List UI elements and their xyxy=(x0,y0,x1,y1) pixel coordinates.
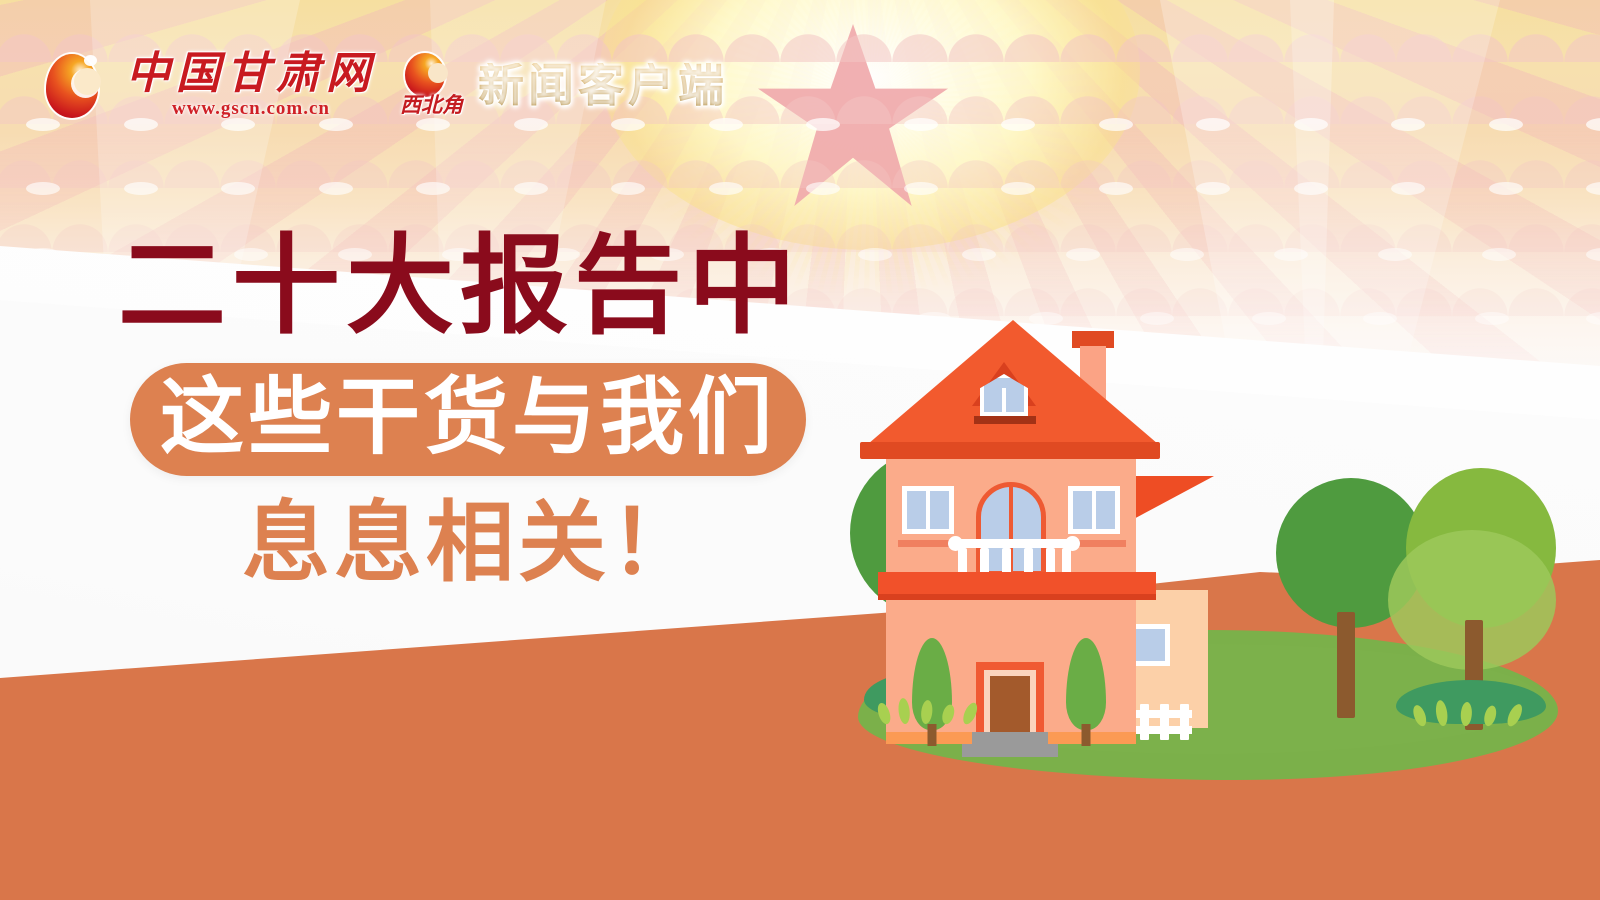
publisher-name: 中国甘肃网 xyxy=(126,52,376,96)
ceiling-light xyxy=(709,182,743,195)
cypress-foliage xyxy=(1066,638,1106,730)
headline-line-3: 息息相关！ xyxy=(242,498,806,588)
balcony-handrail xyxy=(952,539,1076,548)
swirl-notch xyxy=(74,68,101,95)
poster-canvas: 中国甘肃网 www.gscn.com.cn 西北角 新闻客户端 二十大报告中 这… xyxy=(0,0,1600,900)
ceiling-light xyxy=(1099,182,1133,195)
floor-divider-shadow xyxy=(878,594,1156,600)
swirl-notch-small xyxy=(428,63,448,83)
ceiling-light xyxy=(1586,118,1600,131)
ceiling-light xyxy=(1001,182,1035,195)
grass-blade xyxy=(940,703,956,725)
house-illustration xyxy=(840,300,1600,820)
roof-eave xyxy=(860,442,1160,459)
grass-blade xyxy=(1411,703,1429,727)
cypress-stem xyxy=(928,724,937,746)
attic-window-sill xyxy=(974,416,1036,424)
headline-line-1: 二十大报告中 xyxy=(118,228,806,345)
upper-window-left xyxy=(902,486,954,534)
cypress-stem xyxy=(1082,724,1091,746)
ceiling-light xyxy=(806,118,840,131)
window-mullion xyxy=(926,491,930,529)
logo-bar: 中国甘肃网 www.gscn.com.cn 西北角 新闻客户端 xyxy=(44,48,728,124)
grass-blade xyxy=(1460,702,1473,727)
ceiling-light xyxy=(806,182,840,195)
swirl-highlight-dot xyxy=(84,55,97,66)
publisher-brand: 中国甘肃网 www.gscn.com.cn xyxy=(126,52,376,120)
upper-window-right xyxy=(1068,486,1120,534)
ceiling-light xyxy=(611,182,645,195)
ceiling-light xyxy=(904,118,938,131)
grass-blade xyxy=(1482,704,1498,727)
ceiling-light xyxy=(1001,118,1035,131)
ceiling-light xyxy=(1586,248,1600,261)
gansu-net-swirl-logo xyxy=(44,48,100,124)
ceiling-light xyxy=(962,248,996,261)
ceiling-light xyxy=(26,182,60,195)
ceiling-light xyxy=(858,248,892,261)
grass-blade xyxy=(920,700,933,725)
app-name: 新闻客户端 xyxy=(478,63,728,109)
grass-tuft-left xyxy=(878,698,988,724)
ceiling-light xyxy=(1066,248,1100,261)
ceiling-light xyxy=(904,182,938,195)
grass-blade xyxy=(1434,699,1449,726)
ceiling-light xyxy=(319,182,353,195)
ceiling-light xyxy=(1099,118,1133,131)
grass-blade xyxy=(875,701,892,725)
headline-line-2: 这些干货与我们 xyxy=(160,375,776,461)
headline-pill: 这些干货与我们 xyxy=(130,363,806,477)
grass-blade xyxy=(897,698,911,725)
publisher-url: www.gscn.com.cn xyxy=(172,98,330,120)
cypress-right xyxy=(1066,638,1106,746)
cypress-left xyxy=(912,638,952,746)
grass-tuft-right xyxy=(1414,700,1534,726)
xibeijiao-swirl-logo: 西北角 xyxy=(402,53,448,119)
grass-blade xyxy=(960,701,979,726)
xibeijiao-caption: 西北角 xyxy=(400,89,463,119)
ceiling-light xyxy=(1586,182,1600,195)
window-mullion xyxy=(1092,491,1096,529)
grass-blade xyxy=(1505,702,1525,728)
front-step-lower xyxy=(962,744,1058,757)
headline-pill-wrapper: 这些干货与我们 xyxy=(130,363,806,477)
floor-divider-band xyxy=(878,572,1156,594)
front-step-upper xyxy=(972,732,1048,744)
tree-trunk xyxy=(1337,612,1355,718)
headline-block: 二十大报告中 这些干货与我们 息息相关！ xyxy=(118,228,806,588)
